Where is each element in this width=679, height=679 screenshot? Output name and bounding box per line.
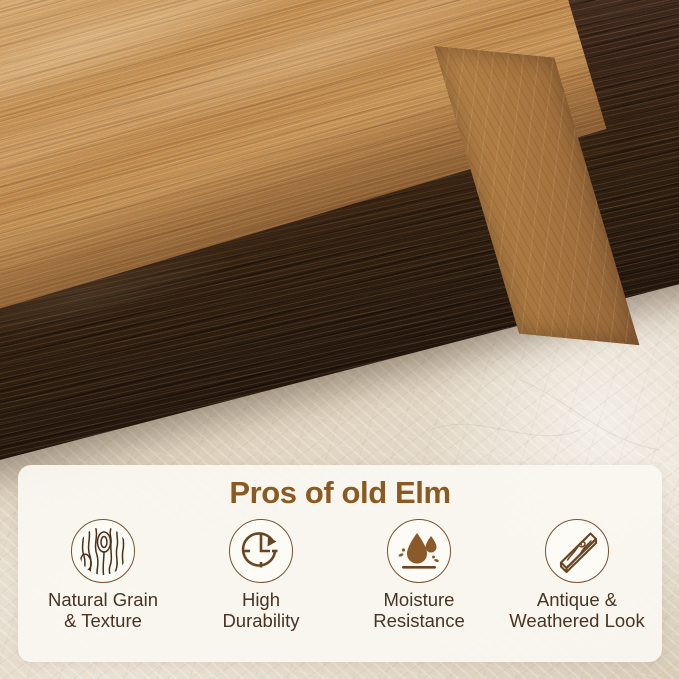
feature-label: Moisture Resistance xyxy=(373,590,465,631)
product-image: Pros of old Elm xyxy=(0,0,679,679)
feature-high-durability[interactable]: High Durability xyxy=(182,519,340,631)
wood-grain-icon xyxy=(71,519,135,583)
feature-natural-grain[interactable]: Natural Grain & Texture xyxy=(24,519,182,631)
feature-label: Natural Grain & Texture xyxy=(48,590,158,631)
feature-label: High Durability xyxy=(222,590,299,631)
feature-label: Antique & Weathered Look xyxy=(509,590,644,631)
wood-plank-icon xyxy=(545,519,609,583)
feature-moisture-resistance[interactable]: Moisture Resistance xyxy=(340,519,498,631)
water-drop-icon xyxy=(387,519,451,583)
feature-antique-weathered[interactable]: Antique & Weathered Look xyxy=(498,519,656,631)
pros-panel: Pros of old Elm xyxy=(18,465,662,662)
panel-title: Pros of old Elm xyxy=(18,475,662,511)
feature-list: Natural Grain & Texture xyxy=(18,519,662,631)
clock-refresh-icon xyxy=(229,519,293,583)
